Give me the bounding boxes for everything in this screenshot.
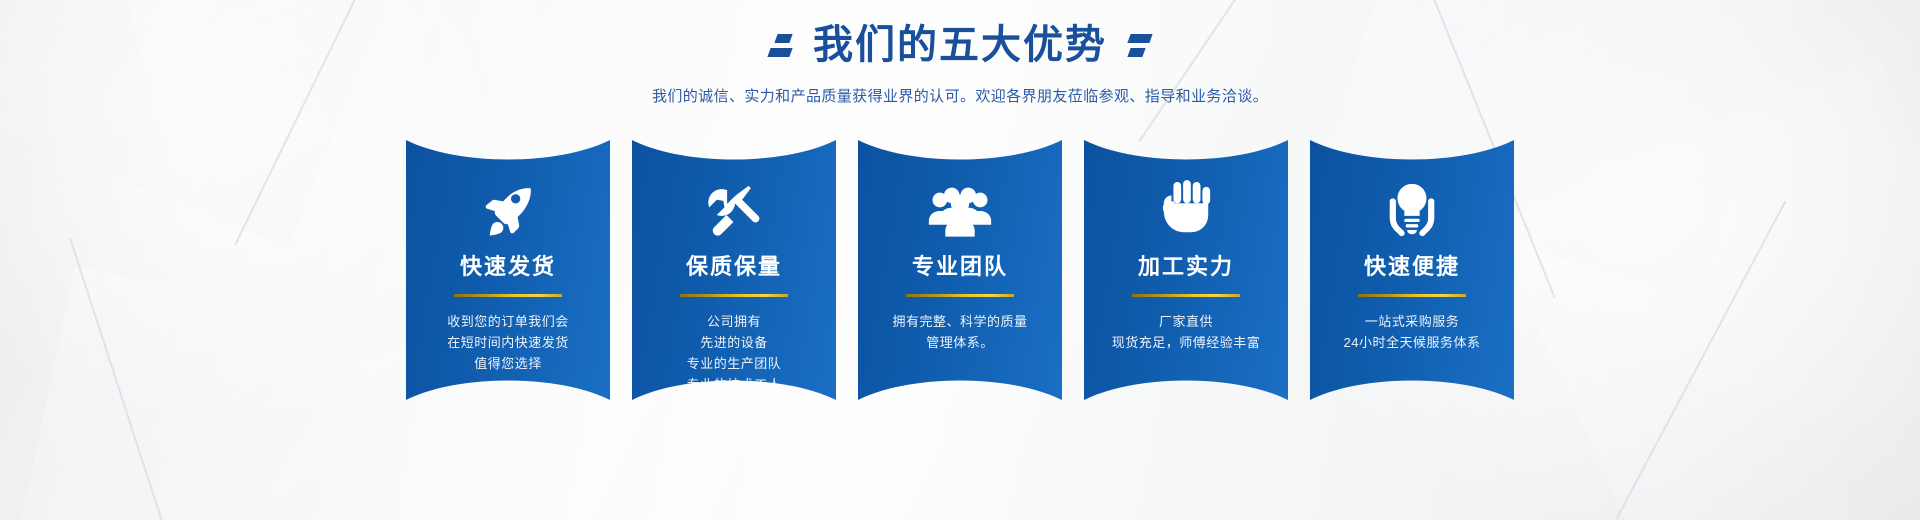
card-description-line: 先进的设备 [687, 332, 782, 353]
card-description-line: 厂家直供 [1112, 311, 1261, 332]
card-description-line: 现货充足，师傅经验丰富 [1112, 332, 1261, 353]
card-description-line: 专业的生产团队 [687, 353, 782, 374]
fist-hand-icon [1158, 180, 1214, 242]
card-description: 厂家直供 现货充足，师傅经验丰富 [1100, 311, 1273, 353]
section-header: 我们的五大优势 我们的诚信、实力和产品质量获得业界的认可。欢迎各界朋友莅临参观、… [0, 0, 1920, 106]
rocket-icon [477, 180, 539, 242]
lightbulb-in-hands-icon [1377, 180, 1447, 242]
card-description: 收到您的订单我们会 在短时间内快速发货 值得您选择 [435, 311, 581, 374]
card-title: 快速发货 [460, 256, 556, 278]
advantage-card[interactable]: 保质保量 公司拥有 先进的设备 专业的生产团队 专业的技术工人 [632, 140, 836, 400]
card-description: 一站式采购服务 24小时全天候服务体系 [1332, 311, 1493, 353]
card-divider [1132, 294, 1240, 297]
card-description-line: 值得您选择 [447, 353, 569, 374]
card-title: 保质保量 [686, 256, 782, 278]
card-description-line: 收到您的订单我们会 [447, 311, 569, 332]
page-subtitle: 我们的诚信、实力和产品质量获得业界的认可。欢迎各界朋友莅临参观、指导和业务洽谈。 [0, 85, 1920, 106]
card-description-line: 专业的技术工人 [687, 374, 782, 395]
advantage-card[interactable]: 快速便捷 一站式采购服务 24小时全天候服务体系 [1310, 140, 1514, 400]
people-group-icon [927, 180, 993, 242]
card-description-line: 管理体系。 [892, 332, 1027, 353]
page-title: 我们的五大优势 [813, 25, 1107, 65]
card-title: 加工实力 [1138, 256, 1234, 278]
card-description-line: 一站式采购服务 [1344, 311, 1481, 332]
card-description-line: 在短时间内快速发货 [447, 332, 569, 353]
card-divider [454, 294, 562, 297]
card-description-line: 拥有完整、科学的质量 [892, 311, 1027, 332]
card-description-line: 公司拥有 [687, 311, 782, 332]
diagonal-slash-deco-right-icon [1129, 25, 1155, 65]
card-divider [1358, 294, 1466, 297]
card-divider [906, 294, 1014, 297]
card-description: 拥有完整、科学的质量 管理体系。 [880, 311, 1039, 353]
advantage-card[interactable]: 加工实力 厂家直供 现货充足，师傅经验丰富 [1084, 140, 1288, 400]
advantage-card[interactable]: 专业团队 拥有完整、科学的质量 管理体系。 [858, 140, 1062, 400]
advantage-card[interactable]: 快速发货 收到您的订单我们会 在短时间内快速发货 值得您选择 [406, 140, 610, 400]
title-row: 我们的五大优势 [0, 18, 1920, 72]
card-description: 公司拥有 先进的设备 专业的生产团队 专业的技术工人 [675, 311, 794, 395]
card-title: 专业团队 [912, 256, 1008, 278]
wrench-screwdriver-icon [703, 180, 765, 242]
card-description-line: 24小时全天候服务体系 [1344, 332, 1481, 353]
card-title: 快速便捷 [1364, 256, 1460, 278]
advantage-card-list: 快速发货 收到您的订单我们会 在短时间内快速发货 值得您选择 保质保量 [0, 140, 1920, 400]
card-divider [680, 294, 788, 297]
diagonal-slash-deco-left-icon [765, 25, 791, 65]
